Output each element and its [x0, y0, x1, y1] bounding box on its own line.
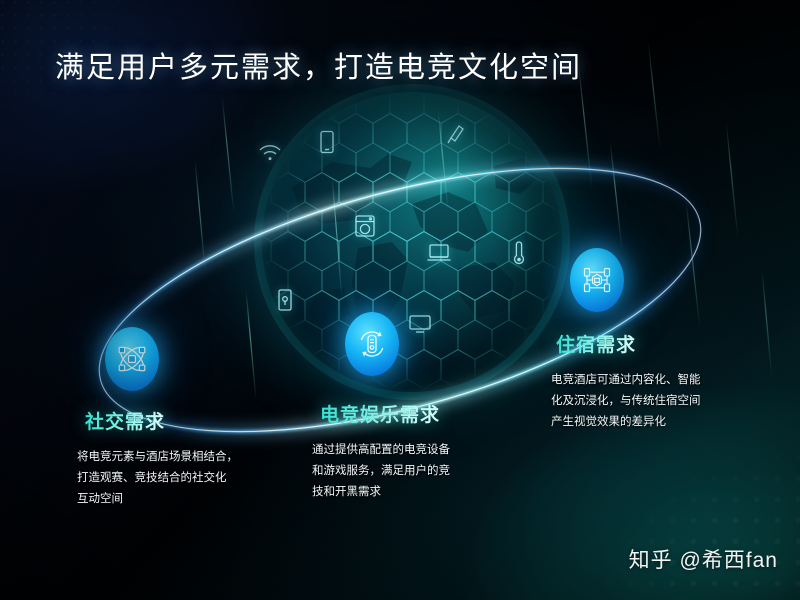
- slide-title: 满足用户多元需求，打造电竞文化空间: [55, 44, 582, 86]
- washing-machine-icon: [354, 214, 376, 243]
- watermark: 知乎 @希西fan: [629, 544, 778, 574]
- smart-building-network-icon: [580, 263, 614, 297]
- hexagonal-mesh-globe: [262, 92, 562, 392]
- plug-icon: [446, 122, 466, 151]
- social-network-icon: [115, 342, 149, 376]
- item-heading-social-demand: 社交需求: [85, 407, 165, 434]
- item-description-social-demand: 将电竞元素与酒店场景相结合， 打造观赛、竞技结合的社交化 互动空间: [77, 447, 292, 510]
- item-description-accommodation-demand: 电竞酒店可通过内容化、智能 化及沉浸化，与传统住宿空间 产生视觉效果的差异化: [551, 370, 751, 433]
- node-social-demand[interactable]: [105, 327, 159, 391]
- node-esports-entertainment-demand[interactable]: [345, 312, 399, 376]
- smartphone-icon: [318, 130, 336, 159]
- game-device-refresh-icon: [355, 327, 389, 361]
- item-heading-accommodation-demand: 住宿需求: [556, 330, 636, 357]
- wifi-icon: [258, 144, 282, 167]
- item-description-esports-entertainment-demand: 通过提供高配置的电竞设备 和游戏服务，满足用户的竞 技和开黑需求: [312, 440, 502, 503]
- slide-canvas: 满足用户多元需求，打造电竞文化空间 社交需求 将电竞元素与酒店场景相结合， 打造…: [0, 0, 800, 600]
- door-lock-icon: [276, 288, 294, 317]
- node-accommodation-demand[interactable]: [570, 248, 624, 312]
- laptop-icon: [426, 242, 452, 269]
- thermometer-icon: [512, 240, 526, 271]
- tv-icon: [408, 314, 432, 339]
- item-heading-esports-entertainment-demand: 电竞娱乐需求: [320, 400, 440, 427]
